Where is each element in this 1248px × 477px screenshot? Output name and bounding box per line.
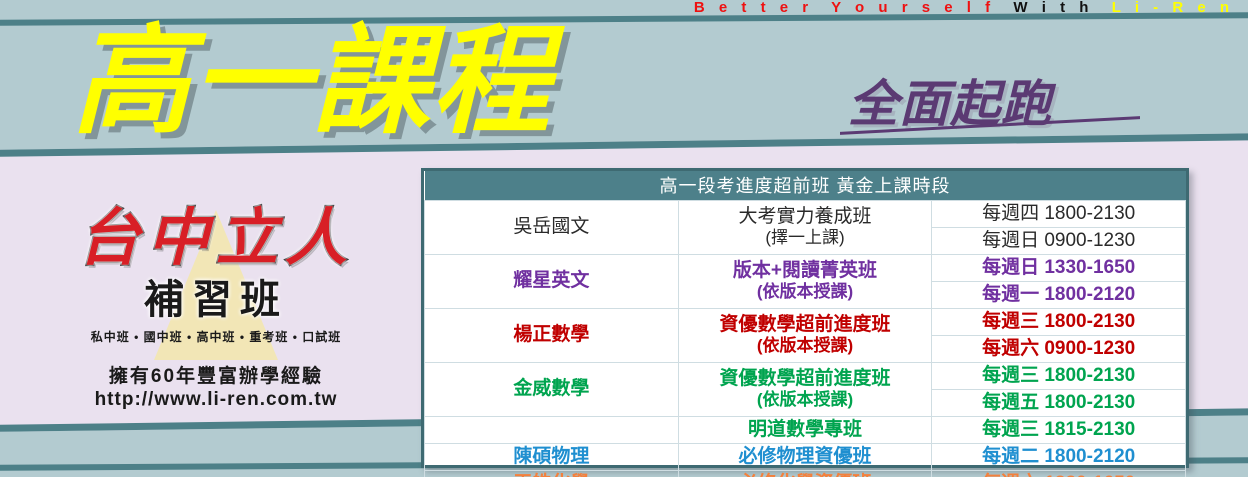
table-row: 王皓化學必修化學資優班每週六 1330-1650	[425, 470, 1186, 477]
course-name: 必修化學資優班	[738, 473, 871, 477]
tagline: B e t t e r Y o u r s e l f W i t h L i …	[0, 0, 1234, 16]
logo-experience-text: 擁有60年豐富辦學經驗	[36, 361, 396, 388]
tagline-word-yourself: Y o u r s e l f	[831, 0, 995, 16]
logo-brand-name: 台中立人	[36, 206, 396, 269]
cell-teacher: 楊正數學	[425, 308, 679, 362]
cell-course: 資優數學超前進度班(依版本授課)	[678, 362, 932, 416]
cell-course: 版本+閱讀菁英班(依版本授課)	[678, 254, 932, 308]
course-note: (依版本授課)	[683, 336, 928, 356]
table-row: 明道數學專班每週三 1815-2130	[425, 416, 1186, 443]
schedule-table-head: 高一段考進度超前班 黃金上課時段	[425, 171, 1186, 200]
cell-course: 明道數學專班	[678, 416, 932, 443]
table-row: 耀星英文版本+閱讀菁英班(依版本授課)每週日 1330-1650	[425, 254, 1186, 281]
course-name: 必修物理資優班	[738, 446, 871, 467]
tagline-word-with: W i t h	[1013, 0, 1093, 16]
schedule-table: 高一段考進度超前班 黃金上課時段 吳岳國文大考實力養成班(擇一上課)每週四 18…	[424, 171, 1186, 477]
cell-teacher: 耀星英文	[425, 254, 679, 308]
cell-time: 每週三 1800-2130	[932, 362, 1186, 389]
cell-time: 每週一 1800-2120	[932, 281, 1186, 308]
course-note: (擇一上課)	[683, 228, 928, 248]
course-name: 大考實力養成班	[738, 206, 871, 227]
cell-time: 每週五 1800-2130	[932, 389, 1186, 416]
cell-time: 每週日 1330-1650	[932, 254, 1186, 281]
table-row: 陳碩物理必修物理資優班每週二 1800-2120	[425, 443, 1186, 470]
page-title: 高一課程	[72, 14, 552, 149]
table-row: 金威數學資優數學超前進度班(依版本授課)每週三 1800-2130	[425, 362, 1186, 389]
schedule-header-row: 高一段考進度超前班 黃金上課時段	[425, 171, 1186, 200]
cell-teacher: 吳岳國文	[425, 200, 679, 254]
course-name: 資優數學超前進度班	[719, 314, 890, 335]
course-name: 明道數學專班	[748, 419, 862, 440]
logo-website-url[interactable]: http://www.li-ren.com.tw	[36, 389, 396, 411]
cell-time: 每週四 1800-2130	[932, 200, 1186, 227]
cell-teacher	[425, 416, 679, 443]
cell-teacher: 陳碩物理	[425, 443, 679, 470]
cell-course: 必修化學資優班	[678, 470, 932, 477]
cell-time: 每週六 1330-1650	[932, 470, 1186, 477]
table-row: 吳岳國文大考實力養成班(擇一上課)每週四 1800-2130	[425, 200, 1186, 227]
cell-time: 每週三 1815-2130	[932, 416, 1186, 443]
brand-logo: 台中立人 補習班 私中班 • 國中班 • 高中班 • 重考班 • 口試班 擁有6…	[36, 206, 396, 411]
course-name: 版本+閱讀菁英班	[733, 260, 877, 281]
cell-time: 每週日 0900-1230	[932, 227, 1186, 254]
promo-poster: B e t t e r Y o u r s e l f W i t h L i …	[0, 0, 1248, 477]
tagline-word-liren: L i - R e n	[1112, 0, 1234, 16]
cell-course: 資優數學超前進度班(依版本授課)	[678, 308, 932, 362]
course-note: (依版本授課)	[683, 390, 928, 410]
schedule-header-title: 高一段考進度超前班 黃金上課時段	[425, 171, 1186, 200]
table-row: 楊正數學資優數學超前進度班(依版本授課)每週三 1800-2130	[425, 308, 1186, 335]
cell-teacher: 金威數學	[425, 362, 679, 416]
cell-course: 必修物理資優班	[678, 443, 932, 470]
schedule-table-container: 高一段考進度超前班 黃金上課時段 吳岳國文大考實力養成班(擇一上課)每週四 18…	[421, 168, 1189, 468]
cell-teacher: 王皓化學	[425, 470, 679, 477]
course-note: (依版本授課)	[683, 282, 928, 302]
logo-brand-type: 補習班	[36, 267, 396, 325]
cell-time: 每週二 1800-2120	[932, 443, 1186, 470]
tagline-word-better: B e t t e r	[694, 0, 813, 16]
cell-time: 每週六 0900-1230	[932, 335, 1186, 362]
cell-time: 每週三 1800-2130	[932, 308, 1186, 335]
cell-course: 大考實力養成班(擇一上課)	[678, 200, 932, 254]
course-name: 資優數學超前進度班	[719, 368, 890, 389]
schedule-table-body: 吳岳國文大考實力養成班(擇一上課)每週四 1800-2130每週日 0900-1…	[425, 200, 1186, 477]
logo-class-list: 私中班 • 國中班 • 高中班 • 重考班 • 口試班	[36, 328, 396, 345]
